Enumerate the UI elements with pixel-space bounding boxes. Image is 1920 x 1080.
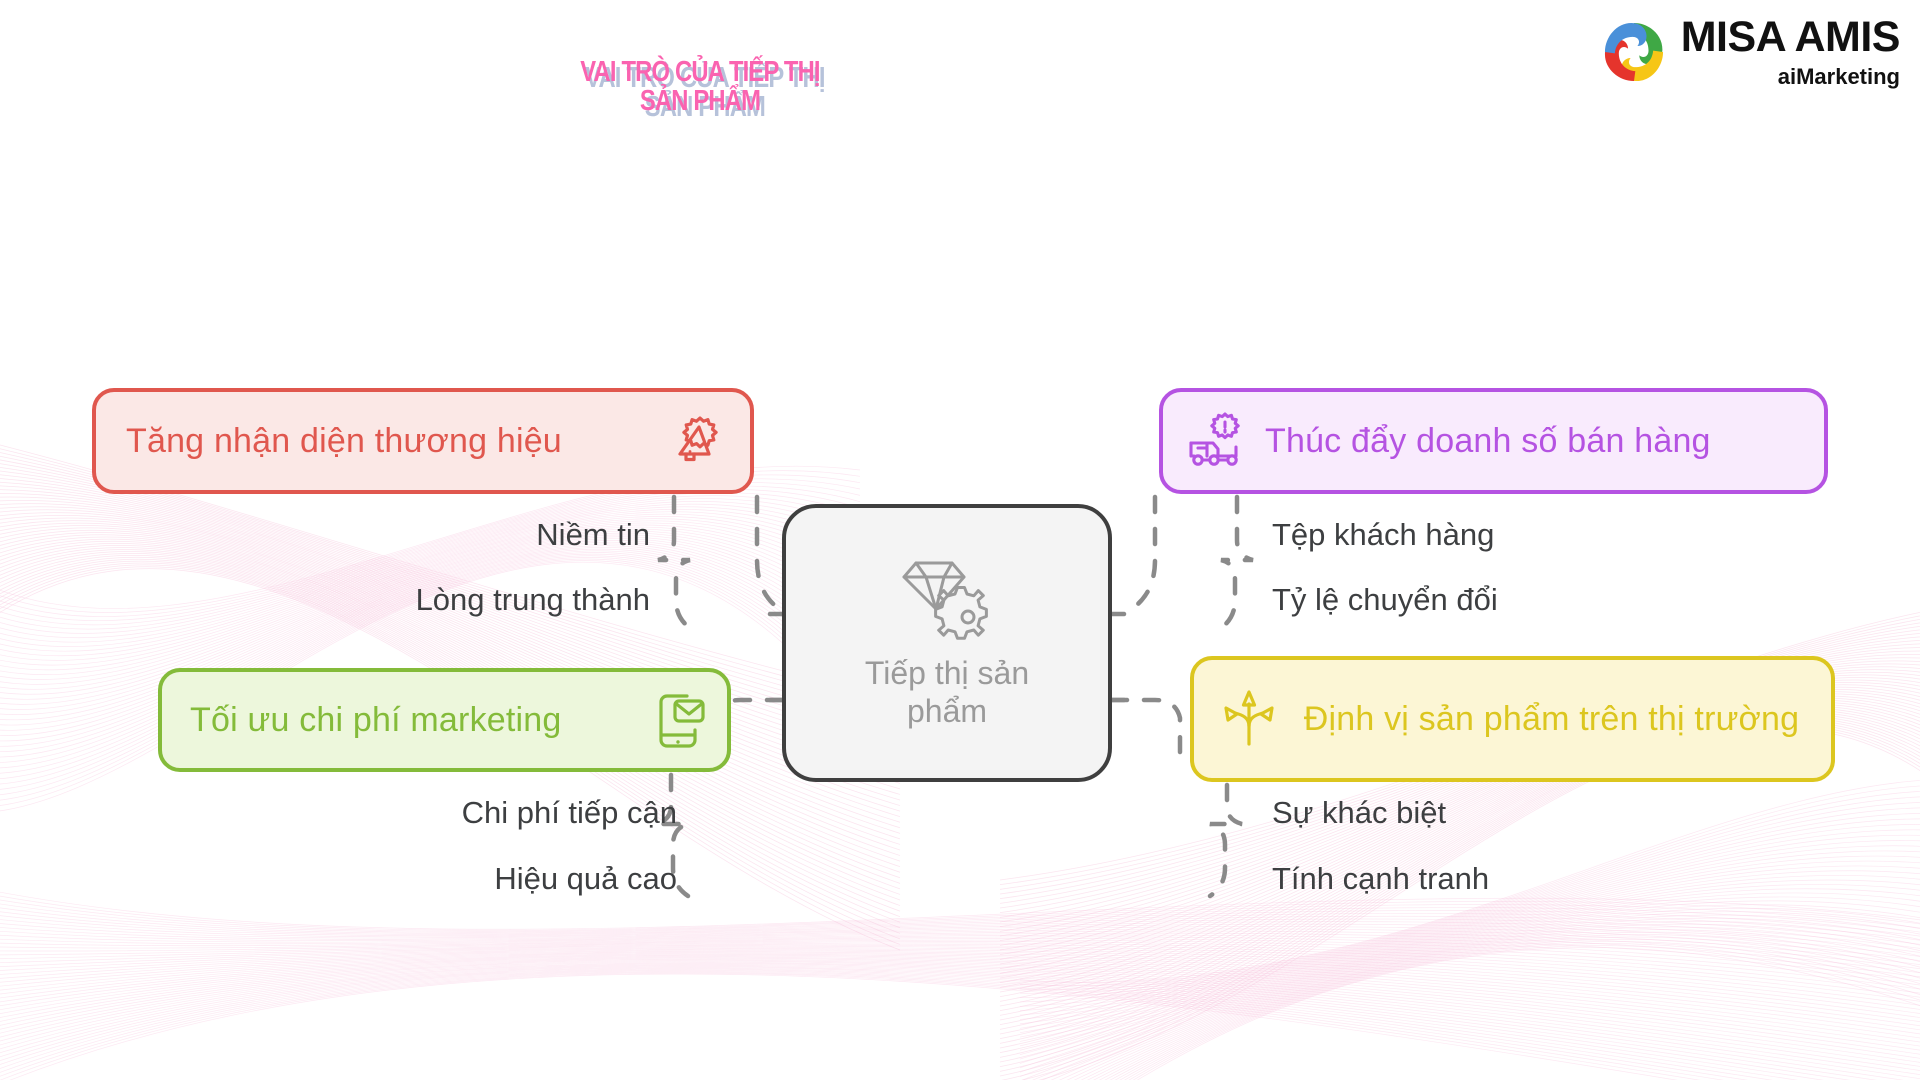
- connector-center-to-position: [1112, 700, 1180, 752]
- branch-card-cost-optimization[interactable]: Tối ưu chi phí marketing: [158, 668, 731, 772]
- diamond-gear-icon: [898, 555, 996, 647]
- page-title: VAI TRÒ CỦA TIẾP THỊ SẢN PHẨM: [0, 58, 1400, 115]
- sub-label-audience: Tệp khách hàng: [1272, 518, 1494, 552]
- center-node-label: Tiếp thị sản phẩm: [827, 655, 1067, 731]
- sub-label-trust: Niềm tin: [536, 518, 650, 552]
- misa-pinwheel-logo-icon: [1601, 19, 1667, 85]
- branch-card-sales-growth[interactable]: Thúc đẩy doanh số bán hàng: [1159, 388, 1828, 494]
- connector-brand-to-subs: [658, 497, 690, 628]
- phone-envelope-icon: [653, 688, 709, 752]
- branch-card-market-positioning[interactable]: Định vị sản phẩm trên thị trường: [1190, 656, 1835, 782]
- branch-label-market-positioning: Định vị sản phẩm trên thị trường: [1296, 700, 1807, 738]
- branch-label-brand-awareness: Tăng nhận diện thương hiệu: [126, 422, 562, 460]
- sub-label-competitiveness: Tính cạnh tranh: [1272, 862, 1489, 896]
- logo-subtitle: aiMarketing: [1778, 66, 1900, 88]
- connector-sales-to-subs: [1221, 497, 1253, 628]
- connector-position-to-subs: [1210, 785, 1242, 896]
- sub-label-conversion: Tỷ lệ chuyển đổi: [1272, 583, 1498, 617]
- logo-title: MISA AMIS: [1681, 16, 1900, 59]
- sub-label-high-efficiency: Hiệu quả cao: [494, 862, 677, 896]
- branch-label-sales-growth: Thúc đẩy doanh số bán hàng: [1265, 422, 1711, 460]
- infographic-canvas: MISA AMIS aiMarketing VAI TRÒ CỦA TIẾP T…: [0, 0, 1920, 1080]
- sub-label-cost-of-reach: Chi phí tiếp cận: [462, 796, 677, 830]
- branching-arrows-icon: [1218, 686, 1280, 752]
- logo-wordmark: MISA AMIS aiMarketing: [1681, 16, 1900, 88]
- connector-sales-to-center: [1125, 497, 1155, 614]
- page-title-line-2: SẢN PHẨM: [126, 87, 1274, 116]
- sub-label-differentiation: Sự khác biệt: [1272, 796, 1446, 830]
- sub-label-loyalty: Lòng trung thành: [416, 583, 650, 617]
- megaphone-burst-icon: [664, 409, 728, 473]
- branch-card-brand-awareness[interactable]: Tăng nhận diện thương hiệu: [92, 388, 754, 494]
- delivery-truck-badge-icon: [1185, 410, 1251, 472]
- page-title-line-1: VAI TRÒ CỦA TIẾP THỊ: [126, 58, 1274, 87]
- center-node-product-marketing[interactable]: Tiếp thị sản phẩm: [782, 504, 1112, 782]
- branch-label-cost-optimization: Tối ưu chi phí marketing: [190, 701, 562, 739]
- misa-amis-logo: MISA AMIS aiMarketing: [1601, 16, 1900, 88]
